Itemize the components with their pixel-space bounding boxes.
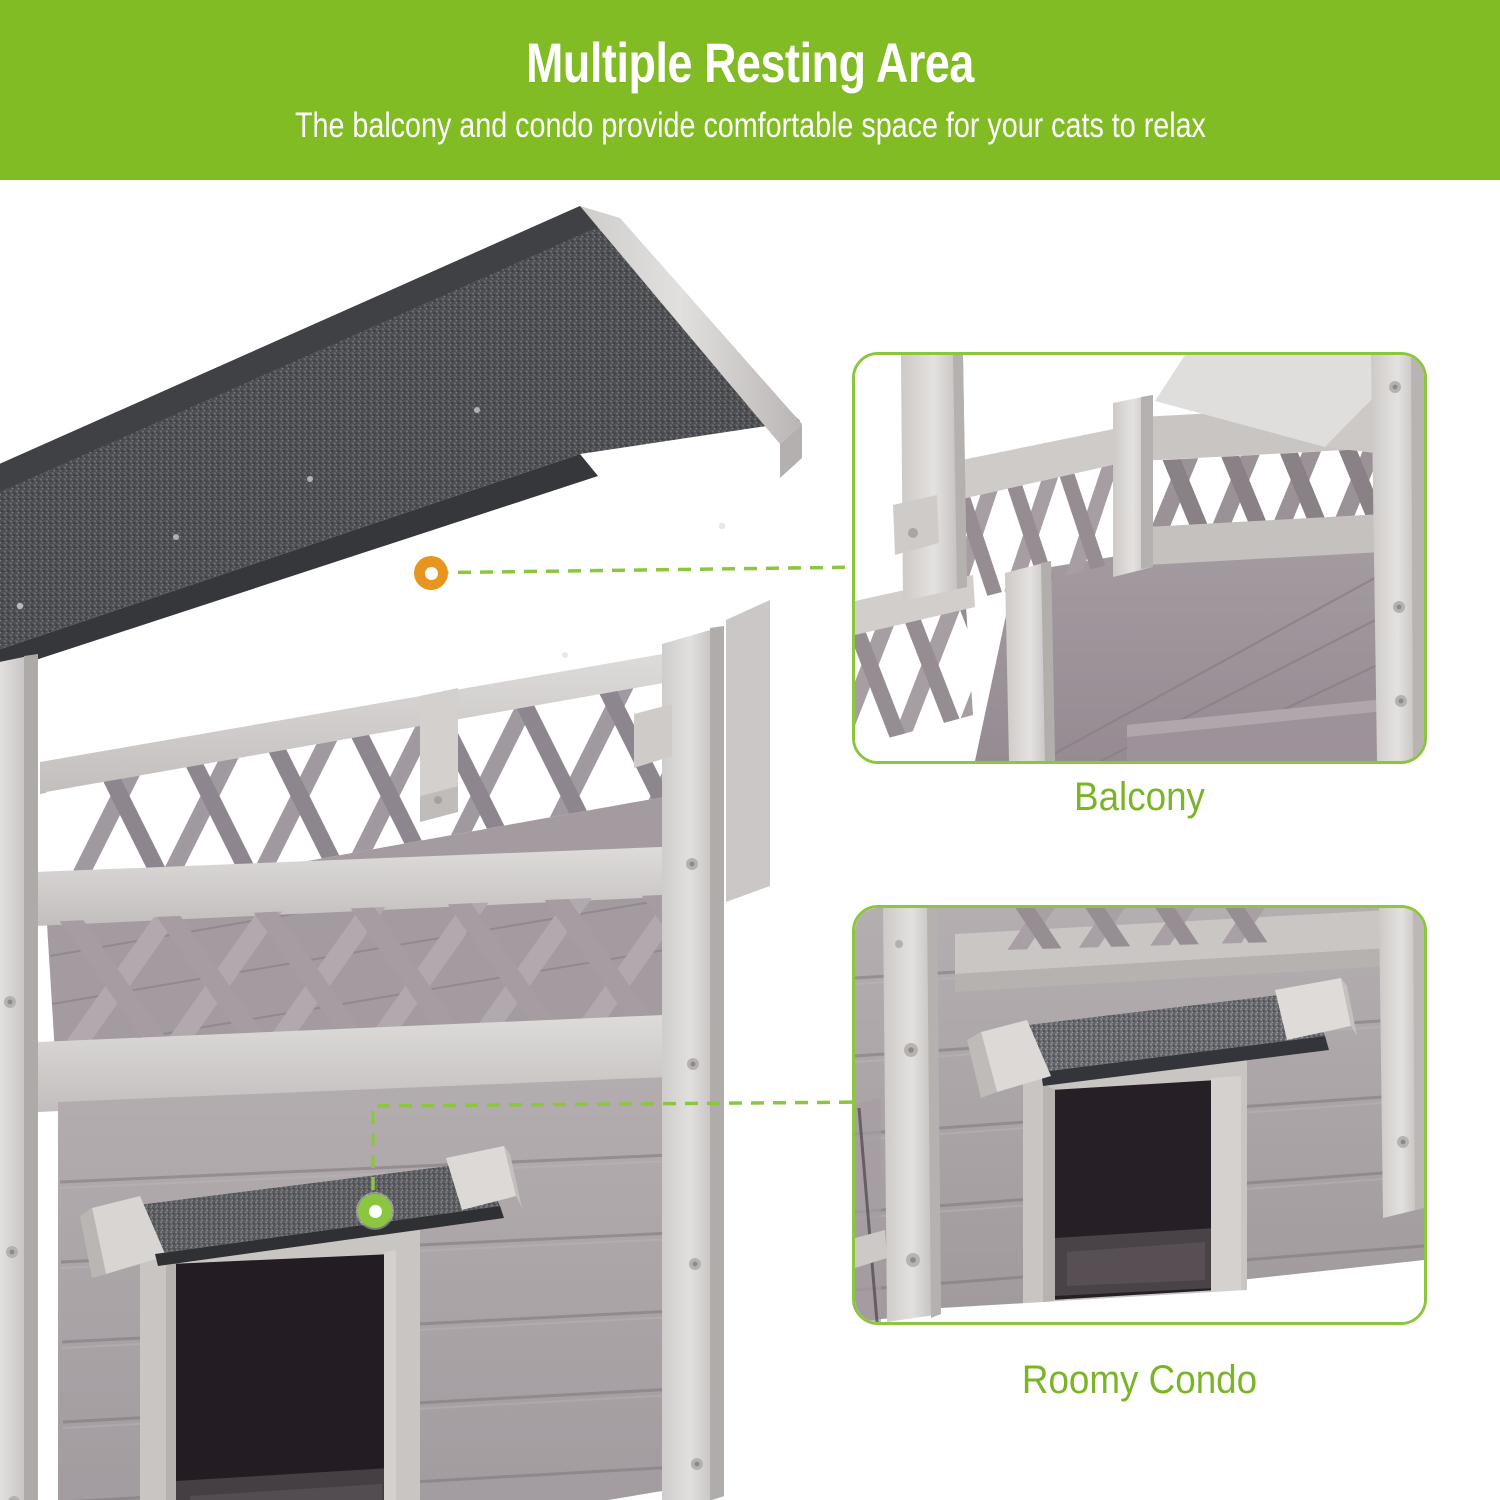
hotspot-marker-condo[interactable] — [358, 1194, 392, 1228]
balcony-detail-photo — [855, 355, 1424, 761]
callout-label-balcony: Balcony — [875, 775, 1404, 820]
callout-box-balcony[interactable] — [852, 352, 1427, 764]
condo-detail-photo — [855, 908, 1424, 1322]
header-banner: Multiple Resting Area The balcony and co… — [0, 0, 1500, 180]
cat-house-illustration — [0, 196, 810, 1500]
banner-subtitle: The balcony and condo provide comfortabl… — [295, 107, 1206, 146]
hotspot-marker-balcony[interactable] — [414, 556, 448, 590]
banner-title: Multiple Resting Area — [526, 34, 974, 93]
callout-box-condo[interactable] — [852, 905, 1427, 1325]
main-product-photo — [0, 196, 810, 1500]
infographic-page: Multiple Resting Area The balcony and co… — [0, 0, 1500, 1500]
callout-label-condo: Roomy Condo — [875, 1358, 1404, 1403]
